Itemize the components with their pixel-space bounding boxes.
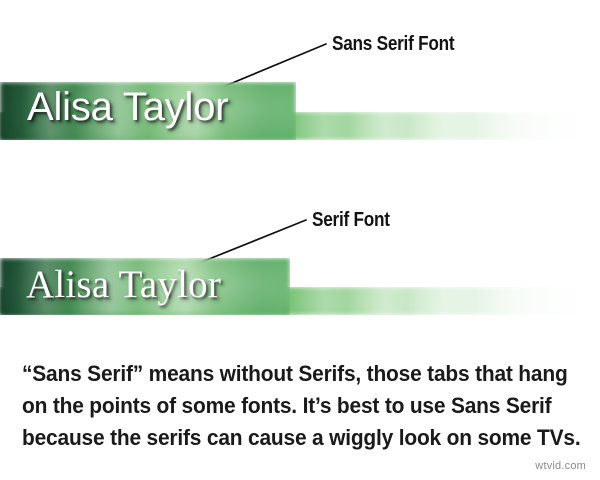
description-line: because the serifs can cause a wiggly lo… — [22, 422, 548, 454]
banner-name-serif: Alisa Taylor — [26, 262, 221, 307]
watermark: wtvid.com — [535, 460, 586, 472]
callout-label-serif: Serif Font — [312, 209, 390, 232]
banner-name-sans-serif: Alisa Taylor — [27, 85, 228, 130]
slide-canvas: Sans Serif Font Alisa Taylor Serif Font … — [0, 0, 600, 480]
description-line: on the points of some fonts. It’s best t… — [22, 390, 548, 422]
callout-label-sans-serif: Sans Serif Font — [332, 33, 454, 56]
description-line: “Sans Serif” means without Serifs, those… — [22, 358, 548, 390]
description-paragraph: “Sans Serif” means without Serifs, those… — [22, 358, 548, 454]
